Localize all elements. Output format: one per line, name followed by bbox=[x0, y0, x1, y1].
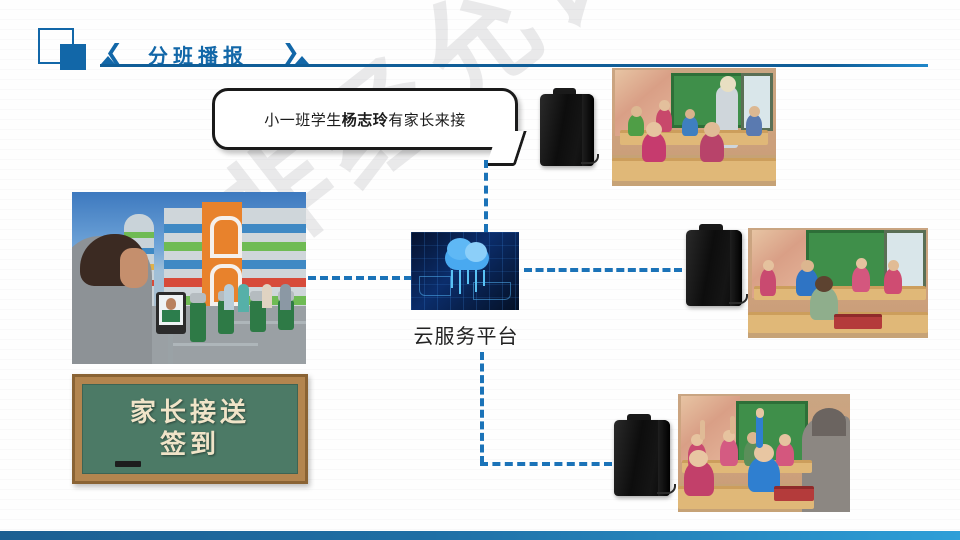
gate-turnstile-1 bbox=[190, 302, 206, 342]
connector-cloud-to-bottom-speaker bbox=[480, 462, 612, 466]
chalkboard-eraser bbox=[115, 461, 141, 467]
speaker-top bbox=[540, 88, 594, 166]
gate-person-3 bbox=[262, 284, 272, 308]
connector-cloud-to-middle-speaker bbox=[524, 268, 682, 272]
gate-face-recognition-kiosk bbox=[156, 292, 186, 334]
announcement-prefix: 小一班学生 bbox=[264, 111, 342, 129]
slide-canvas: 非经允许不 ❮ 分班播报 ❯ 小一班学生杨志玲有家长来接 bbox=[0, 0, 960, 540]
footer-bar bbox=[0, 531, 960, 540]
speaker-top-cord bbox=[581, 154, 599, 164]
gate-person-4 bbox=[280, 284, 291, 310]
chalkboard-line-2: 签到 bbox=[160, 429, 220, 462]
connector-gate-to-cloud bbox=[308, 276, 412, 280]
connector-cloud-to-top-speaker bbox=[484, 160, 488, 232]
speaker-bottom-cord bbox=[657, 484, 676, 494]
speaker-middle-cord bbox=[729, 294, 748, 304]
classroom-photo-3 bbox=[678, 394, 850, 512]
speaker-middle bbox=[686, 224, 742, 306]
classroom-photo-2 bbox=[748, 228, 928, 338]
gate-person-1 bbox=[224, 284, 234, 310]
header-square-filled-icon bbox=[60, 44, 86, 70]
cloud-platform-image bbox=[411, 232, 519, 310]
chalkboard-surface: 家长接送 签到 bbox=[82, 384, 298, 474]
announcement-bubble: 小一班学生杨志玲有家长来接 bbox=[212, 88, 518, 150]
chalkboard-text: 家长接送 签到 bbox=[83, 385, 297, 473]
chalkboard-sign: 家长接送 签到 bbox=[72, 374, 308, 484]
announcement-bubble-tail-mask bbox=[470, 128, 500, 138]
header-divider bbox=[100, 64, 928, 67]
connector-cloud-down-segment bbox=[480, 352, 484, 464]
speaker-bottom bbox=[614, 414, 670, 496]
cloud-platform-label: 云服务平台 bbox=[404, 320, 528, 349]
announcement-bubble-text: 小一班学生杨志玲有家长来接 bbox=[264, 109, 466, 130]
cloud-shape-bump-right bbox=[465, 242, 487, 262]
gate-person-2 bbox=[238, 284, 249, 312]
announcement-student-name: 杨志玲 bbox=[342, 111, 389, 129]
gate-entrance-photo bbox=[72, 192, 306, 364]
gate-parent-face bbox=[120, 248, 148, 288]
chevron-right-triangle-icon bbox=[295, 56, 309, 64]
classroom-1-desk-front bbox=[612, 158, 776, 181]
announcement-suffix: 有家长来接 bbox=[388, 111, 466, 129]
kiosk-screen bbox=[159, 295, 183, 325]
chevron-left-triangle-icon bbox=[101, 56, 115, 64]
gate-railing-left bbox=[168, 343, 258, 346]
classroom-photo-1 bbox=[612, 68, 776, 186]
chalkboard-line-1: 家长接送 bbox=[130, 397, 250, 430]
